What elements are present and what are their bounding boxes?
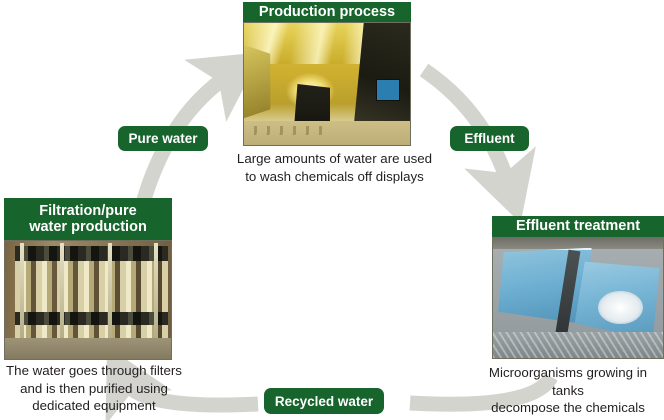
node-header-effluent-treatment: Effluent treatment — [492, 216, 664, 237]
photo-detail-mid-manifold — [15, 312, 168, 325]
node-caption-effluent-treatment: Microorganisms growing in tanks decompos… — [472, 364, 664, 417]
photo-detail-ground — [493, 332, 663, 358]
photo-detail-floor — [244, 121, 410, 145]
photo-detail-floor — [5, 338, 171, 359]
water-recycling-cycle-diagram: Production process Large amounts of wate… — [0, 0, 664, 420]
flow-label-recycled-water: Recycled water — [264, 388, 384, 414]
photo-detail-foam — [598, 291, 642, 325]
photo-detail-frame-2 — [60, 243, 64, 342]
effluent-treatment-tanks-photo — [492, 237, 664, 359]
photo-detail-frame-3 — [108, 243, 112, 342]
filtration-equipment-photo — [4, 240, 172, 360]
node-caption-production: Large amounts of water are used to wash … — [227, 150, 442, 185]
flow-label-effluent: Effluent — [450, 126, 529, 151]
node-header-production: Production process — [243, 2, 411, 23]
photo-fill — [493, 238, 663, 358]
flow-label-pure-water: Pure water — [118, 126, 208, 151]
photo-detail-frame-1 — [20, 243, 24, 342]
photo-detail-top-strip — [493, 238, 663, 249]
photo-detail-frame-4 — [154, 243, 158, 342]
production-process-photo — [243, 22, 411, 146]
photo-detail-top-manifold — [15, 246, 168, 261]
photo-detail-filter-columns — [15, 248, 168, 340]
node-caption-filtration: The water goes through filters and is th… — [0, 362, 188, 415]
node-header-filtration-line1: Filtration/pure — [39, 203, 136, 219]
photo-fill — [5, 241, 171, 359]
photo-detail-monitor — [376, 79, 400, 101]
node-header-filtration: Filtration/pure water production — [4, 198, 172, 240]
node-header-filtration-line2: water production — [29, 219, 147, 235]
photo-fill — [244, 23, 410, 145]
